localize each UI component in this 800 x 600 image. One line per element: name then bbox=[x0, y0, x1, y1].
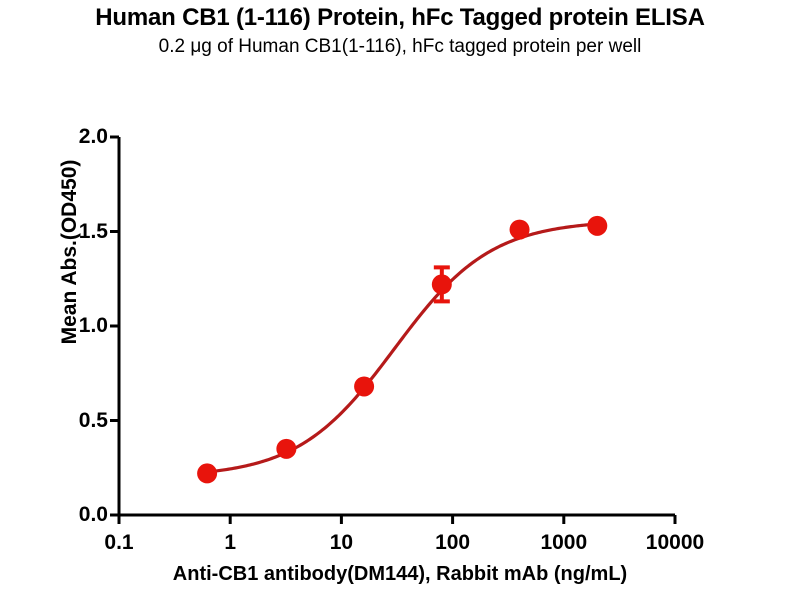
data-point-marker bbox=[432, 274, 452, 294]
fit-curve bbox=[201, 224, 600, 473]
x-axis-tick-label: 1000 bbox=[540, 531, 587, 555]
x-axis-tick-label: 10000 bbox=[646, 531, 704, 555]
y-axis-tick-label: 1.5 bbox=[40, 220, 108, 244]
y-axis-tick-label: 2.0 bbox=[40, 125, 108, 149]
data-point-marker bbox=[510, 220, 530, 240]
data-point-marker bbox=[587, 216, 607, 236]
y-axis-tick-label: 0.5 bbox=[40, 409, 108, 433]
x-axis-tick-label: 10 bbox=[330, 531, 353, 555]
plot-area bbox=[0, 0, 800, 600]
y-axis-tick-label: 0.0 bbox=[40, 503, 108, 527]
x-axis-tick-label: 100 bbox=[435, 531, 470, 555]
y-axis-tick-label: 1.0 bbox=[40, 314, 108, 338]
data-point-marker bbox=[197, 463, 217, 483]
x-axis-tick-label: 0.1 bbox=[104, 531, 133, 555]
data-point-marker bbox=[354, 376, 374, 396]
data-point-marker bbox=[276, 439, 296, 459]
x-axis-tick-label: 1 bbox=[224, 531, 236, 555]
elisa-chart-figure: Human CB1 (1-116) Protein, hFc Tagged pr… bbox=[0, 0, 800, 600]
